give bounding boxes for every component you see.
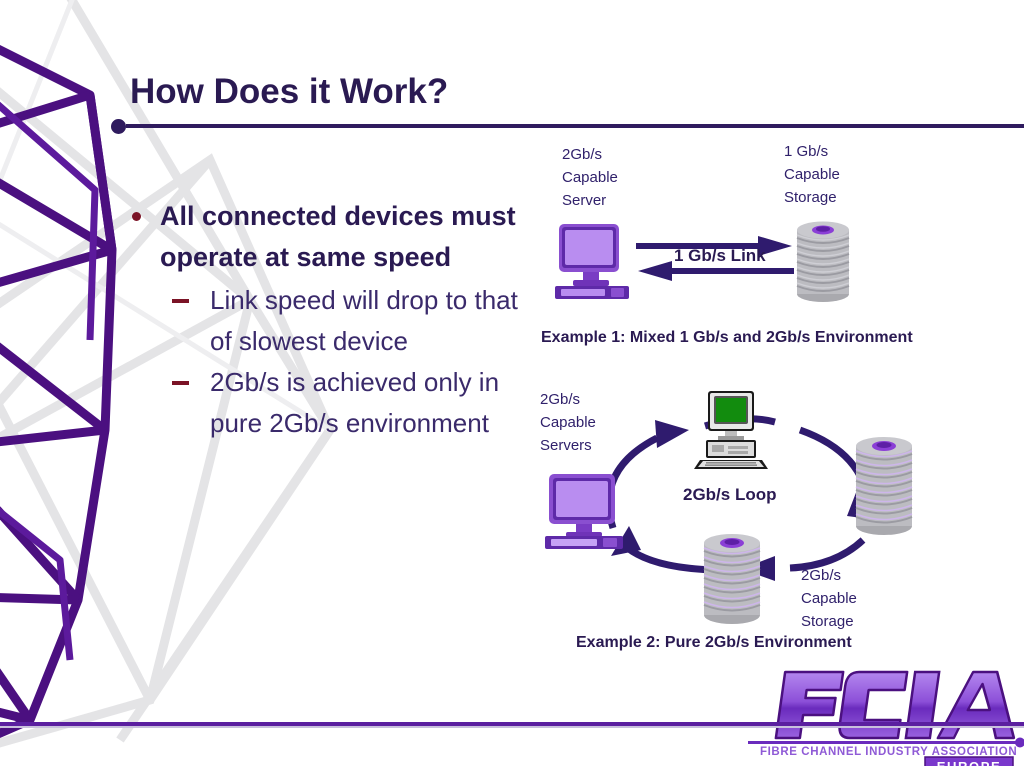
diagram2-caption: Example 2: Pure 2Gb/s Environment xyxy=(576,634,852,652)
storage-disk-stack-icon xyxy=(700,530,764,630)
slide: How Does it Work? All connected devices … xyxy=(0,0,1024,768)
fcia-region: EUROPE xyxy=(937,759,1002,766)
title-rule xyxy=(126,124,1024,128)
fcia-tagline: FIBRE CHANNEL INDUSTRY ASSOCIATION xyxy=(760,746,1017,758)
diagram1-caption: Example 1: Mixed 1 Gb/s and 2Gb/s Enviro… xyxy=(541,329,913,347)
diagram2-loop-label: 2Gb/s Loop xyxy=(683,485,777,505)
desktop-pc-icon xyxy=(692,390,770,470)
footer-rule-shadow xyxy=(0,726,1024,728)
bullet-item-level1: All connected devices must operate at sa… xyxy=(118,196,538,278)
purple-server-monitor-icon xyxy=(553,222,631,302)
purple-server-monitor-icon xyxy=(543,470,625,550)
bullet-list: All connected devices must operate at sa… xyxy=(118,196,538,444)
storage-disk-stack-icon xyxy=(852,432,916,542)
bullet-dot-icon xyxy=(132,212,141,221)
bullet-text: Link speed will drop to that of slowest … xyxy=(210,285,518,356)
diagram1-server-label: 2Gb/s Capable Server xyxy=(562,143,618,212)
bullet-item-level2: 2Gb/s is achieved only in pure 2Gb/s env… xyxy=(118,362,538,444)
bullet-item-level2: Link speed will drop to that of slowest … xyxy=(118,280,538,362)
fcia-logo: FIBRE CHANNEL INDUSTRY ASSOCIATION EUROP… xyxy=(748,666,1024,766)
page-title: How Does it Work? xyxy=(130,72,448,112)
diagram2-storage-label: 2Gb/s Capable Storage xyxy=(801,564,857,633)
bullet-dash-icon xyxy=(172,299,189,303)
diagram1-storage-label: 1 Gb/s Capable Storage xyxy=(784,140,840,209)
bullet-dash-icon xyxy=(172,381,189,385)
bullet-text: 2Gb/s is achieved only in pure 2Gb/s env… xyxy=(210,367,499,438)
storage-disk-stack-icon xyxy=(793,218,853,310)
bullet-text: All connected devices must operate at sa… xyxy=(160,201,516,272)
title-rule-dot xyxy=(111,119,126,134)
diagram1-link-label: 1 Gb/s Link xyxy=(674,246,766,266)
